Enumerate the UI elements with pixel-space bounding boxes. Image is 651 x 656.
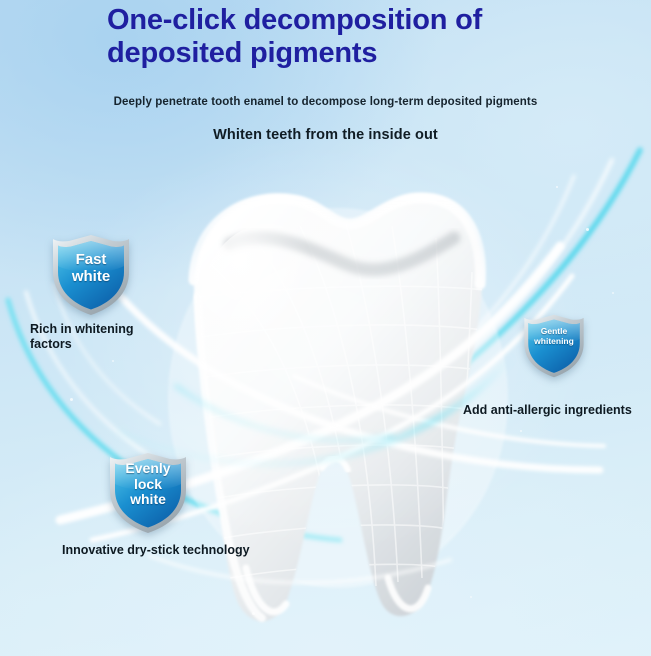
subtitle-secondary: Whiten teeth from the inside out: [0, 127, 651, 143]
caption-innovative-dry-stick-technology: Innovative dry-stick technology: [62, 543, 302, 558]
badge-gentle-whitening-label: Gentle whitening: [522, 327, 586, 346]
caption-rich-in-whitening-factors: Rich in whitening factors: [30, 322, 190, 352]
sparkle-dot: [556, 186, 558, 188]
badge-evenly-lock-white-label: Evenly lock white: [107, 461, 189, 508]
badge-gentle-whitening[interactable]: Gentle whitening: [522, 312, 586, 380]
promo-poster: One-click decomposition of deposited pig…: [0, 0, 651, 656]
subtitle-primary: Deeply penetrate tooth enamel to decompo…: [0, 96, 651, 108]
sparkle-dot: [586, 228, 589, 231]
badge-evenly-lock-white[interactable]: Evenly lock white: [107, 450, 189, 536]
page-title: One-click decomposition of deposited pig…: [107, 4, 577, 70]
sparkle-dot: [70, 398, 73, 401]
sparkle-dot: [612, 292, 614, 294]
badge-fast-white[interactable]: Fast white: [50, 232, 132, 318]
sparkle-dot: [520, 430, 522, 432]
sparkle-dot: [112, 360, 114, 362]
caption-add-anti-allergic-ingredients: Add anti-allergic ingredients: [463, 403, 651, 418]
badge-fast-white-label: Fast white: [50, 252, 132, 286]
